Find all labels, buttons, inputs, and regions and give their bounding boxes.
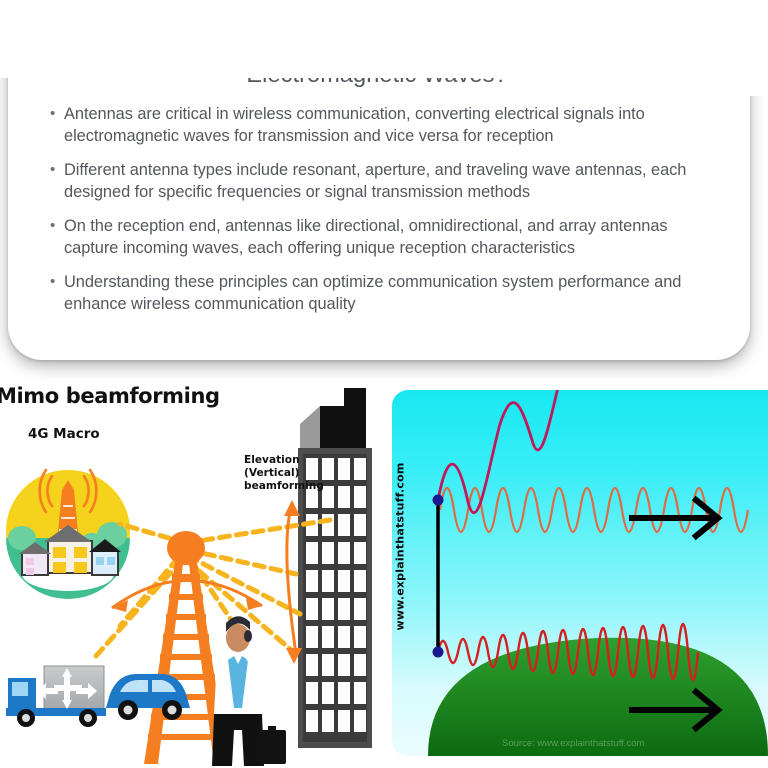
office-building (298, 388, 372, 748)
wave-diagram-svg (392, 390, 768, 756)
wave-middle (440, 488, 748, 532)
bullet-list: Antennas are critical in wireless commun… (38, 104, 716, 315)
wave-site-name: www.explainthatstuff.com (394, 462, 407, 630)
bullet-item: Antennas are critical in wireless commun… (50, 104, 710, 147)
wave-top-chirp (438, 390, 592, 513)
label-elevation-line-1: Elevation (244, 454, 340, 467)
label-elevation-line-3: beamforming (244, 480, 340, 493)
mobile-phone (244, 630, 252, 642)
label-elevation-beamforming: Elevation (Vertical) beamforming (244, 454, 340, 493)
mimo-title: Mimo beamforming (0, 384, 220, 408)
card-top-bleed (0, 0, 768, 78)
bullet-item: Different antenna types include resonant… (50, 160, 710, 203)
card-right-bleed (740, 0, 768, 96)
bullet-item: On the reception end, antennas like dire… (50, 216, 710, 259)
mimo-beamforming-illustration: Mimo beamforming 4G Macro Elevation (Ver… (0, 378, 390, 768)
direction-arrow-upper (632, 500, 718, 536)
passenger-car (106, 674, 190, 720)
wave-watermark: Source: www.explainthatstuff.com (502, 738, 644, 749)
elevation-arrow-up (284, 500, 300, 516)
briefcase (258, 730, 286, 764)
macro-cell-scene (6, 470, 130, 599)
illustration-row: Mimo beamforming 4G Macro Elevation (Ver… (0, 378, 768, 768)
label-elevation-line-2: (Vertical) (244, 467, 340, 480)
label-4g-macro: 4G Macro (28, 426, 100, 442)
delivery-truck (6, 666, 106, 727)
wave-propagation-illustration: www.explainthatstuff.com Source: www.exp… (392, 390, 768, 756)
node-bottom (433, 647, 444, 658)
bullet-item: Understanding these principles can optim… (50, 272, 710, 315)
node-top (433, 495, 444, 506)
